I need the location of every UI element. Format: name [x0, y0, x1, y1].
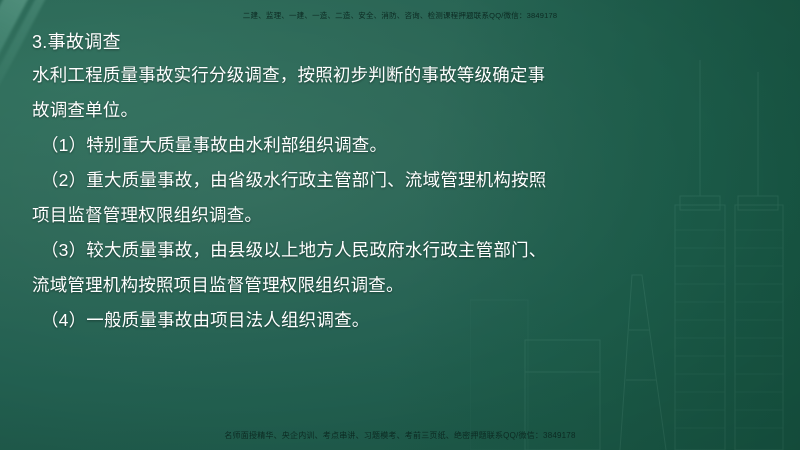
promo-banner-top: 二建、监理、一建、一造、二造、安全、消防、咨询、检测课程押题联系QQ/微信：38…	[0, 12, 800, 20]
slide-paragraph-item-3: （3）较大质量事故，由县级以上地方人民政府水行政主管部门、流域管理机构按照项目监…	[32, 233, 560, 303]
slide-content: 3.事故调查 水利工程质量事故实行分级调查，按照初步判断的事故等级确定事故调查单…	[0, 28, 560, 338]
slide-paragraph-item-4: （4）一般质量事故由项目法人组织调查。	[32, 303, 560, 338]
slide-canvas: 二建、监理、一建、一造、二造、安全、消防、咨询、检测课程押题联系QQ/微信：38…	[0, 0, 800, 450]
slide-heading: 3.事故调查	[32, 28, 560, 56]
slide-paragraph-item-1: （1）特别重大质量事故由水利部组织调查。	[32, 128, 560, 163]
promo-banner-bottom: 名师面授精华、央企内训、考点串讲、习题模考、考前三页纸、绝密押题联系QQ/微信：…	[0, 432, 800, 440]
slide-paragraph-intro: 水利工程质量事故实行分级调查，按照初步判断的事故等级确定事故调查单位。	[32, 58, 560, 128]
slide-paragraph-item-2: （2）重大质量事故，由省级水行政主管部门、流域管理机构按照项目监督管理权限组织调…	[32, 163, 560, 233]
